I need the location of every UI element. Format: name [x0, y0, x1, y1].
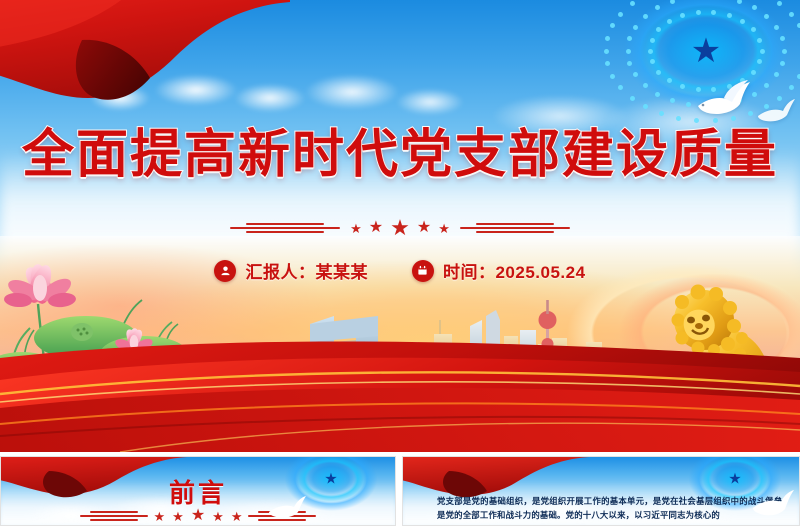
panel-body-text: 党支部是党的基础组织，是党组织开展工作的基本单元，是党在社会基层组织中的战斗堡垒… — [437, 494, 791, 523]
page-title: 全面提高新时代党支部建设质量 — [22, 128, 778, 183]
date-label: 时间：2025.05.24 — [443, 258, 586, 283]
slide-canvas: ★ — [0, 0, 800, 526]
bottom-panels: ★ 前言 ★★★★★ — [0, 456, 800, 526]
panel-dove-icon-left — [267, 494, 307, 525]
date-item: 时间：2025.05.24 — [412, 258, 586, 283]
star-divider: ★★★★★ — [0, 214, 800, 242]
blue-star-emblem-icon: ★ — [596, 0, 800, 146]
red-flag-wave-icon — [0, 0, 290, 134]
title-block: 全面提高新时代党支部建设质量 — [0, 128, 800, 183]
red-silk-waves — [0, 332, 800, 452]
main-banner: ★ — [0, 0, 800, 452]
preface-divider-stars: ★★★★★ — [154, 508, 243, 524]
dove-icon-2 — [756, 96, 796, 124]
preface-title: 前言 — [1, 473, 395, 510]
content-panel[interactable]: ★ 党支部是党的基础组织，是党组织开展工作的基本单元，是党在社会基层组织中的战斗… — [402, 456, 800, 526]
person-icon — [214, 260, 236, 282]
dove-icon-1 — [694, 78, 752, 118]
reporter-label: 汇报人：某某某 — [245, 258, 368, 283]
panel-dove-icon-right — [751, 488, 795, 523]
preface-panel[interactable]: ★ 前言 ★★★★★ — [0, 456, 396, 526]
preface-divider: ★★★★★ — [1, 509, 395, 523]
divider-lines-left — [230, 222, 340, 234]
divider-lines-right — [460, 222, 570, 234]
reporter-item: 汇报人：某某某 — [214, 258, 368, 283]
meta-row: 汇报人：某某某 时间：2025.05.24 — [0, 258, 800, 283]
divider-stars: ★★★★★ — [350, 217, 450, 239]
calendar-icon — [412, 260, 434, 282]
